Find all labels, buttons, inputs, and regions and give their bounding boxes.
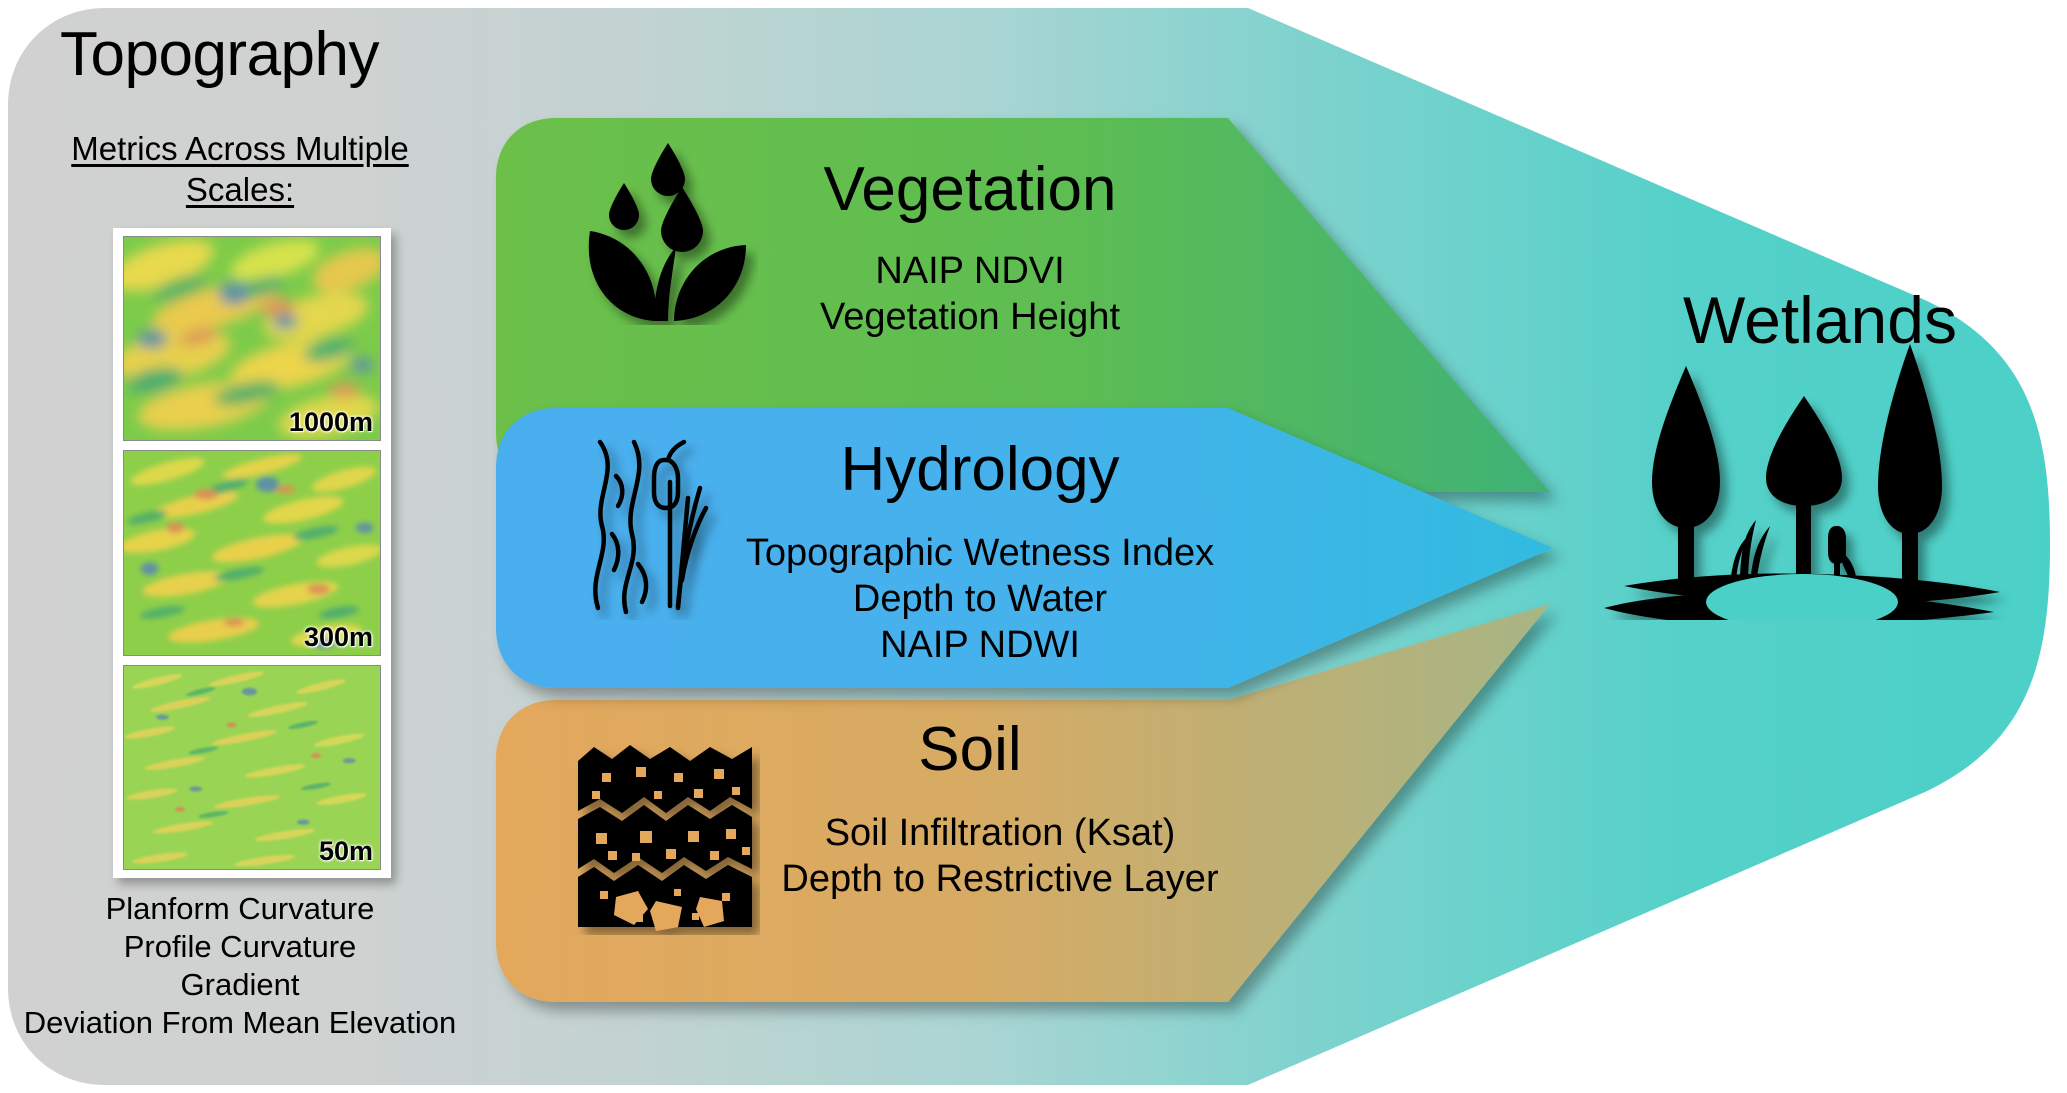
wetland-trees-and-pond-icon — [1590, 330, 2010, 620]
figure-canvas: Topography Metrics Across Multiple Scale… — [0, 0, 2067, 1093]
metrics-caption: Metrics Across Multiple Scales: — [30, 128, 450, 210]
terrain-thumbnail-50m: 50m — [123, 665, 381, 870]
page-title: Topography — [60, 20, 379, 90]
band-item: Topographic Wetness Index — [620, 530, 1340, 576]
soil-band-title: Soil — [740, 718, 1200, 782]
terrain-thumbnail-1000m: 1000m — [123, 236, 381, 441]
soil-band-items: Soil Infiltration (Ksat) Depth to Restri… — [660, 810, 1340, 902]
vegetation-band-title: Vegetation — [690, 158, 1250, 222]
band-item: Vegetation Height — [690, 294, 1250, 340]
vegetation-band-items: NAIP NDVI Vegetation Height — [690, 248, 1250, 340]
band-item: NAIP NDWI — [620, 622, 1340, 668]
hydrology-band-items: Topographic Wetness Index Depth to Water… — [620, 530, 1340, 668]
topography-metric: Deviation From Mean Elevation — [10, 1004, 470, 1042]
topography-metric: Gradient — [10, 966, 470, 1004]
band-item: Depth to Restrictive Layer — [660, 856, 1340, 902]
scale-label: 50m — [319, 836, 373, 867]
terrain-thumbnail-300m: 300m — [123, 450, 381, 655]
band-item: Soil Infiltration (Ksat) — [660, 810, 1340, 856]
scale-label: 300m — [304, 622, 373, 653]
hydrology-band-title: Hydrology — [700, 438, 1260, 502]
band-item: NAIP NDVI — [690, 248, 1250, 294]
multi-scale-thumbnail-stack: 1000m — [113, 228, 391, 878]
topography-metric: Profile Curvature — [10, 928, 470, 966]
wetlands-title: Wetlands — [1600, 285, 2040, 355]
topography-metrics-list: Planform Curvature Profile Curvature Gra… — [10, 890, 470, 1042]
band-item: Depth to Water — [620, 576, 1340, 622]
scale-label: 1000m — [289, 407, 373, 438]
topography-metric: Planform Curvature — [10, 890, 470, 928]
